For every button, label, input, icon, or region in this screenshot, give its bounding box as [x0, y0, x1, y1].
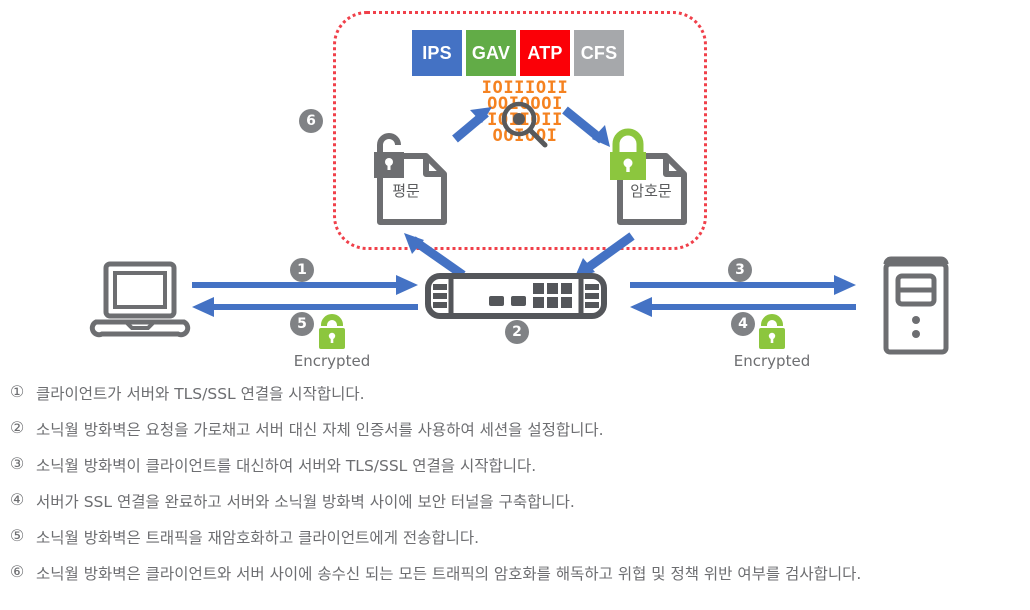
legend-text: 소닉월 방화벽은 트래픽을 재암호화하고 클라이언트에게 전송합니다.	[36, 526, 479, 548]
legend-text: 클라이언트가 서버와 TLS/SSL 연결을 시작합니다.	[36, 382, 365, 404]
encrypted-caption-left: Encrypted	[272, 352, 392, 370]
laptop-icon	[92, 258, 188, 344]
step-marker-1: 1	[290, 258, 314, 282]
padlock-icon-right	[712, 318, 832, 350]
legend-item: ⑥ 소닉월 방화벽은 클라이언트와 서버 사이에 송수신 되는 모든 트래픽의 …	[8, 562, 1030, 598]
legend-number: ⑥	[8, 562, 26, 581]
legend-number: ②	[8, 418, 26, 437]
step-marker-2: 2	[505, 320, 529, 344]
legend-number: ⑤	[8, 526, 26, 545]
legend-text: 소닉월 방화벽은 클라이언트와 서버 사이에 송수신 되는 모든 트래픽의 암호…	[36, 562, 861, 584]
encrypted-label-client-side: Encrypted	[272, 318, 392, 370]
diagram-canvas: IPS GAV ATP CFS IOIIIOII OOIOOOI IOIIOII…	[0, 0, 1030, 610]
step-marker-3: 3	[728, 258, 752, 282]
firewall-appliance-icon	[425, 272, 607, 320]
legend-text: 소닉월 방화벽이 클라이언트를 대신하여 서버와 TLS/SSL 연결을 시작합…	[36, 454, 536, 476]
legend-list: ① 클라이언트가 서버와 TLS/SSL 연결을 시작합니다. ② 소닉월 방화…	[8, 382, 1030, 598]
encrypted-caption-right: Encrypted	[712, 352, 832, 370]
step-marker-6: 6	[299, 109, 323, 133]
encrypted-label-server-side: Encrypted	[712, 318, 832, 370]
legend-number: ③	[8, 454, 26, 473]
legend-item: ③ 소닉월 방화벽이 클라이언트를 대신하여 서버와 TLS/SSL 연결을 시…	[8, 454, 1030, 490]
padlock-icon-left	[272, 318, 392, 350]
server-tower-icon	[878, 252, 954, 356]
legend-text: 서버가 SSL 연결을 완료하고 서버와 소닉월 방화벽 사이에 보안 터널을 …	[36, 490, 575, 512]
legend-item: ⑤ 소닉월 방화벽은 트래픽을 재암호화하고 클라이언트에게 전송합니다.	[8, 526, 1030, 562]
legend-number: ①	[8, 382, 26, 401]
legend-item: ② 소닉월 방화벽은 요청을 가로채고 서버 대신 자체 인증서를 사용하여 세…	[8, 418, 1030, 454]
legend-text: 소닉월 방화벽은 요청을 가로채고 서버 대신 자체 인증서를 사용하여 세션을…	[36, 418, 604, 440]
legend-item: ① 클라이언트가 서버와 TLS/SSL 연결을 시작합니다.	[8, 382, 1030, 418]
legend-number: ④	[8, 490, 26, 509]
legend-item: ④ 서버가 SSL 연결을 완료하고 서버와 소닉월 방화벽 사이에 보안 터널…	[8, 490, 1030, 526]
